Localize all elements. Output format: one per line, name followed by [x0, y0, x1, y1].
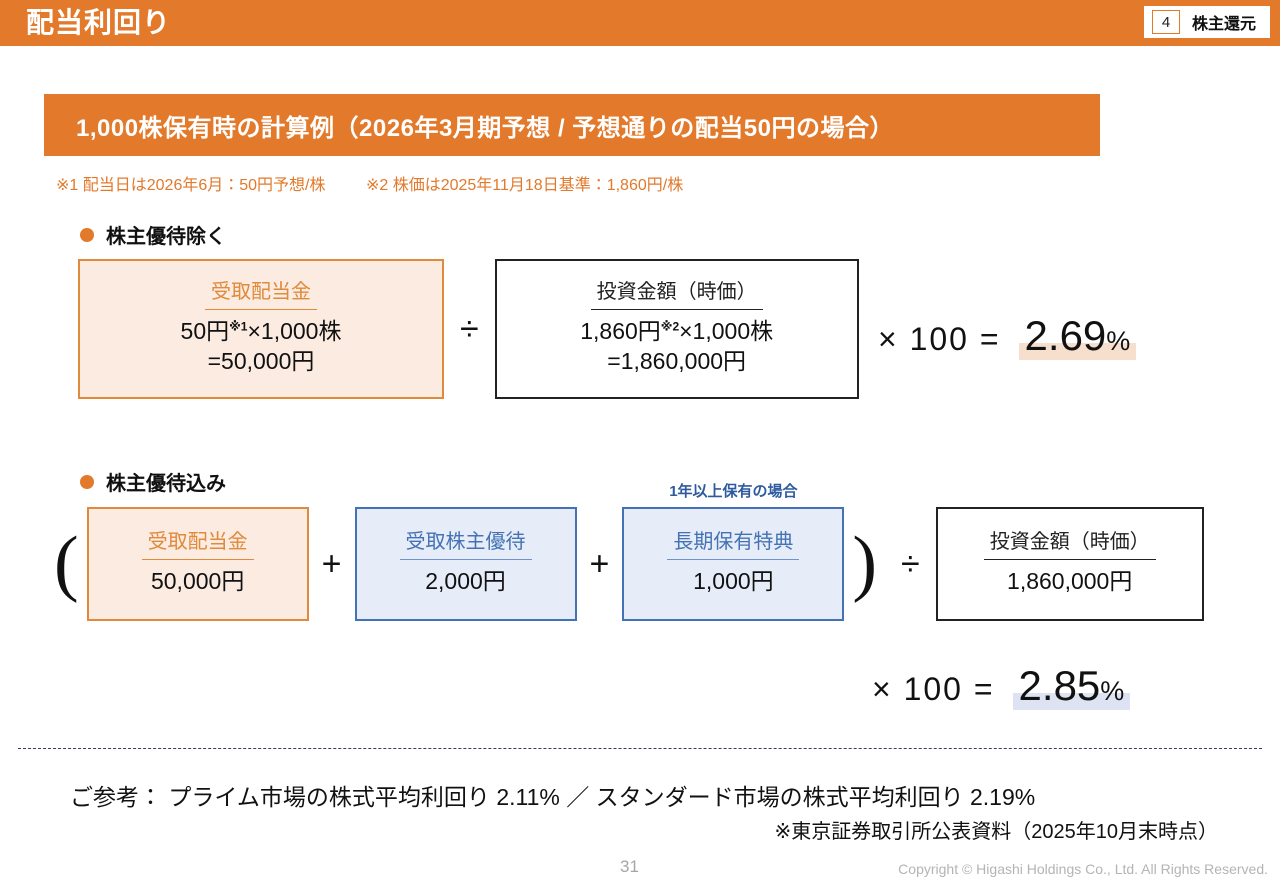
- dividend-received-box-2: 受取配当金 50,000円: [87, 507, 309, 621]
- section2-heading-label: 株主優待込み: [106, 467, 226, 496]
- footnote-2: ※2 株価は2025年11月18日基準：1,860円/株: [366, 177, 683, 194]
- result1-multiply-label: × 100 =: [878, 321, 1001, 358]
- shareholder-benefit-box: 受取株主優待 2,000円: [355, 507, 577, 621]
- paren-close: ): [844, 534, 885, 593]
- assumption-footnotes: ※1 配当日は2026年6月：50円予想/株 ※2 株価は2025年11月18日…: [56, 171, 683, 195]
- dividend-received-value-2: 50,000円: [151, 560, 244, 596]
- bullet-icon: [80, 228, 94, 242]
- dividend-line2: =50,000円: [181, 346, 342, 376]
- longterm-benefit-title: 長期保有特典: [667, 529, 799, 560]
- section-number: 4: [1152, 10, 1180, 34]
- header-bar: [0, 0, 1280, 46]
- investment-line1-post: ×1,000株: [679, 318, 773, 344]
- formula-row-including-benefits: ( 受取配当金 50,000円 + 受取株主優待 2,000円 + 1年以上保有…: [46, 507, 1204, 621]
- calculation-example-banner: 1,000株保有時の計算例（2026年3月期予想 / 予想通りの配当50円の場合…: [44, 94, 1100, 156]
- divide-operator-icon: ÷: [444, 312, 495, 346]
- paren-open: (: [46, 534, 87, 593]
- section-heading-including-benefits: 株主優待込み: [80, 467, 226, 496]
- investment-amount-value-2: 1,860,000円: [1007, 560, 1132, 596]
- section-badge: 4 株主還元: [1144, 6, 1270, 38]
- investment-amount-title: 投資金額（時価）: [591, 279, 763, 310]
- banner-text: 1,000株保有時の計算例（2026年3月期予想 / 予想通りの配当50円の場合…: [44, 108, 894, 143]
- longterm-benefit-box: 長期保有特典 1,000円: [622, 507, 844, 621]
- section1-heading-label: 株主優待除く: [106, 220, 226, 249]
- footnote-1: ※1 配当日は2026年6月：50円予想/株: [56, 177, 326, 194]
- divide-operator-icon-2: ÷: [885, 547, 936, 581]
- result1-highlight: 2.69%: [1025, 312, 1131, 360]
- page-title: 配当利回り: [26, 6, 171, 40]
- investment-line1-note: ※2: [661, 319, 679, 333]
- copyright-notice: Copyright © Higashi Holdings Co., Ltd. A…: [898, 861, 1268, 877]
- plus-operator-icon-2: +: [577, 547, 623, 581]
- investment-amount-box-2: 投資金額（時価） 1,860,000円: [936, 507, 1204, 621]
- dividend-line1-note: ※1: [229, 319, 247, 333]
- result2-percent-sign: %: [1100, 676, 1124, 706]
- formula-row-excluding-benefits: 受取配当金 50円※1×1,000株 =50,000円 ÷ 投資金額（時価） 1…: [78, 259, 859, 399]
- bullet-icon: [80, 475, 94, 489]
- investment-amount-title-2: 投資金額（時価）: [984, 529, 1156, 560]
- investment-line1-pre: 1,860円: [580, 318, 661, 344]
- market-average-reference: ご参考： プライム市場の株式平均利回り 2.11% ／ スタンダード市場の株式平…: [70, 778, 1035, 812]
- section-badge-label: 株主還元: [1192, 10, 1256, 34]
- shareholder-benefit-title: 受取株主優待: [400, 529, 532, 560]
- dividend-received-title-2: 受取配当金: [142, 529, 254, 560]
- reference-source-note: ※東京証券取引所公表資料（2025年10月末時点）: [775, 815, 1219, 844]
- longterm-benefit-caption: 1年以上保有の場合: [622, 480, 844, 501]
- result2-highlight: 2.85%: [1019, 662, 1125, 710]
- dashed-divider: [18, 748, 1262, 749]
- result2-value: 2.85: [1019, 662, 1101, 709]
- dividend-line1-post: ×1,000株: [247, 318, 341, 344]
- plus-operator-icon-1: +: [309, 547, 355, 581]
- dividend-line1-pre: 50円: [181, 318, 230, 344]
- investment-line2: =1,860,000円: [580, 346, 773, 376]
- investment-amount-box: 投資金額（時価） 1,860円※2×1,000株 =1,860,000円: [495, 259, 859, 399]
- longterm-benefit-value: 1,000円: [693, 560, 774, 596]
- dividend-received-body: 50円※1×1,000株 =50,000円: [181, 310, 342, 376]
- yield-result-excluding-benefits: × 100 = 2.69%: [878, 312, 1130, 360]
- shareholder-benefit-value: 2,000円: [425, 560, 506, 596]
- yield-result-including-benefits: × 100 = 2.85%: [872, 662, 1124, 710]
- dividend-received-box: 受取配当金 50円※1×1,000株 =50,000円: [78, 259, 444, 399]
- page-number: 31: [620, 857, 639, 877]
- result1-percent-sign: %: [1106, 326, 1130, 356]
- section-heading-excluding-benefits: 株主優待除く: [80, 220, 226, 249]
- investment-amount-body: 1,860円※2×1,000株 =1,860,000円: [580, 310, 773, 376]
- result2-multiply-label: × 100 =: [872, 671, 995, 708]
- longterm-benefit-group: 1年以上保有の場合 長期保有特典 1,000円: [622, 507, 844, 621]
- result1-value: 2.69: [1025, 312, 1107, 359]
- dividend-received-title: 受取配当金: [205, 279, 317, 310]
